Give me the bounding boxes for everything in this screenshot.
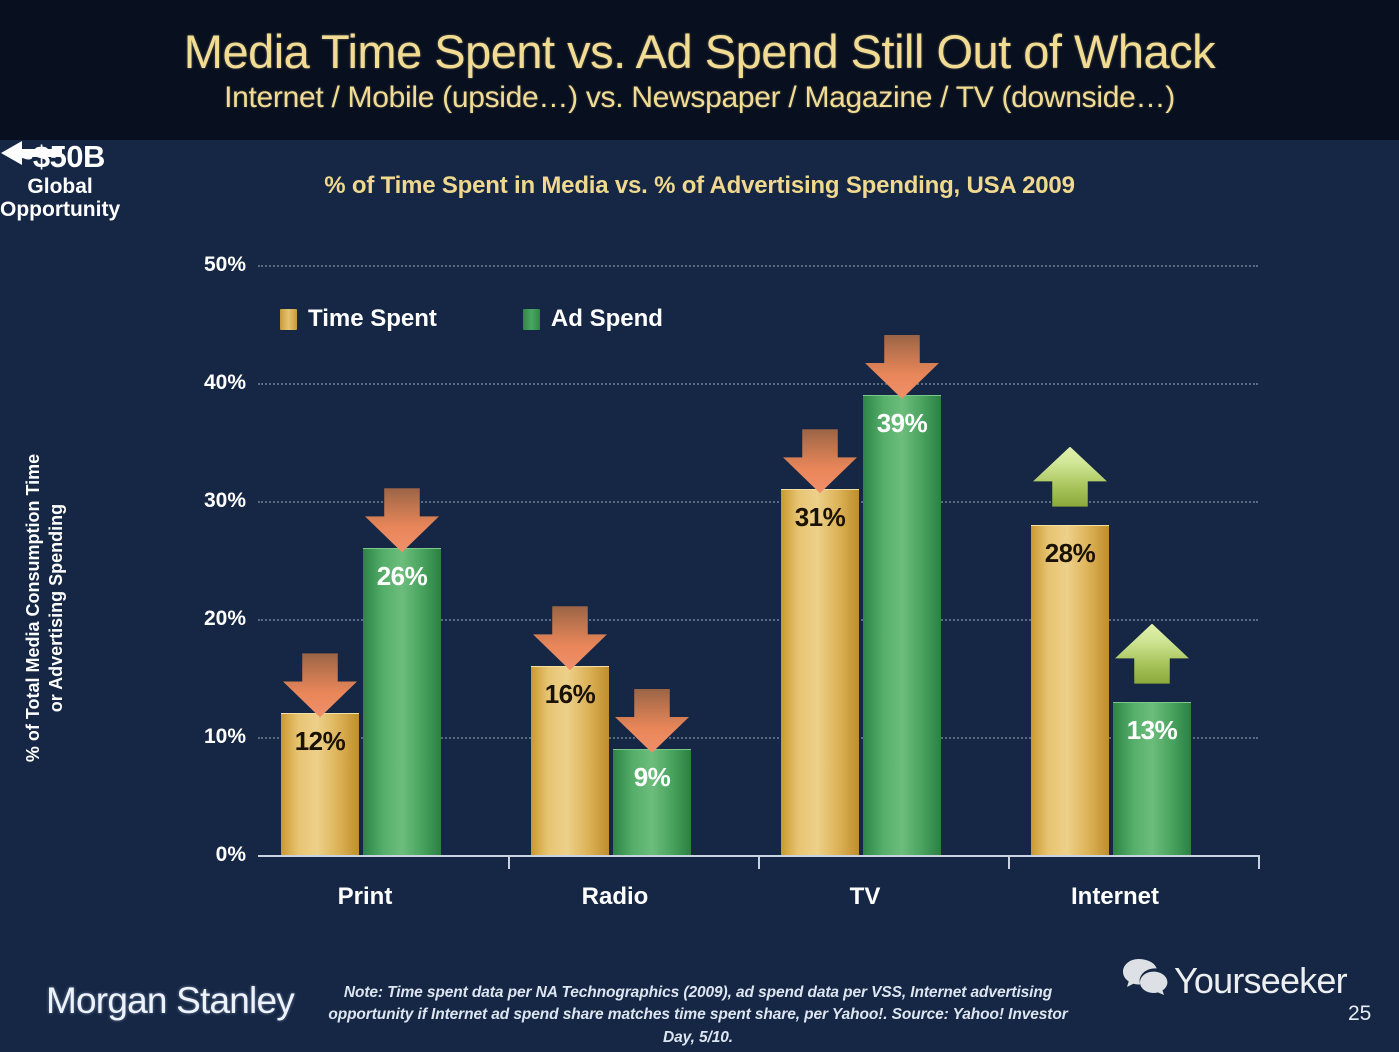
gridline-50% (258, 265, 1258, 267)
trend-arrow-down-radio-ad-spend-icon (615, 689, 689, 753)
legend-item-ad-spend: Ad Spend (523, 305, 663, 333)
trend-arrow-down-tv-ad-spend-icon (865, 335, 939, 399)
y-axis-tick-label: 0% (126, 843, 246, 867)
y-axis-tick-label: 30% (126, 489, 246, 513)
slide-body: % of Time Spent in Media vs. % of Advert… (0, 140, 1399, 1052)
callout-line1: Global (0, 175, 120, 199)
chart-title: % of Time Spent in Media vs. % of Advert… (0, 172, 1399, 200)
bar-tv-ad-spend[interactable]: 39% (863, 395, 941, 855)
y-axis-tick-label: 20% (126, 607, 246, 631)
y-axis-title-line1: % of Total Media Consumption Time (22, 378, 45, 838)
bar-radio-ad-spend[interactable]: 9% (613, 749, 691, 855)
y-axis-tick-label: 10% (126, 725, 246, 749)
y-axis-tick-label: 40% (126, 371, 246, 395)
chart-plot-area: Time Spent Ad Spend 0%10%20%30%40%50%12%… (258, 265, 1258, 855)
bar-value-label: 12% (295, 726, 346, 757)
trend-arrow-down-print-ad-spend-icon (365, 488, 439, 552)
y-axis-title: % of Total Media Consumption Time or Adv… (22, 378, 82, 838)
footnote-text: Note: Time spent data per NA Technograph… (318, 982, 1078, 1049)
bar-print-time-spent[interactable]: 12% (281, 713, 359, 855)
x-axis-label-tv: TV (755, 883, 975, 911)
bar-value-label: 28% (1045, 538, 1096, 569)
bar-tv-time-spent[interactable]: 31% (781, 489, 859, 855)
bar-value-label: 13% (1127, 715, 1178, 746)
bar-value-label: 16% (545, 679, 596, 710)
bar-value-label: 39% (877, 408, 928, 439)
legend-item-time-spent: Time Spent (280, 305, 437, 333)
opportunity-callout: ~$50B Global Opportunity (0, 140, 120, 222)
trend-arrow-up-internet-time-spent-icon (1033, 447, 1107, 507)
trend-arrow-down-tv-time-spent-icon (783, 429, 857, 493)
bar-value-label: 9% (634, 762, 671, 793)
bar-radio-time-spent[interactable]: 16% (531, 666, 609, 855)
bar-internet-time-spent[interactable]: 28% (1031, 525, 1109, 855)
page-number: 25 (1348, 1002, 1371, 1026)
y-axis-tick-label: 50% (126, 253, 246, 277)
y-axis-title-line2: or Advertising Spending (45, 378, 68, 838)
x-axis-tick (508, 855, 510, 869)
morgan-stanley-logo: Morgan Stanley (46, 980, 294, 1022)
callout-line2: Opportunity (0, 198, 120, 222)
x-axis-tick (1258, 855, 1260, 869)
bar-print-ad-spend[interactable]: 26% (363, 548, 441, 855)
chart-legend: Time Spent Ad Spend (280, 305, 663, 333)
legend-label-time-spent: Time Spent (308, 305, 437, 333)
legend-label-ad-spend: Ad Spend (551, 305, 663, 333)
legend-swatch-time-spent-icon (280, 309, 297, 330)
bar-internet-ad-spend[interactable]: 13% (1113, 702, 1191, 855)
callout-amount: ~$50B (0, 140, 120, 175)
trend-arrow-up-internet-ad-spend-icon (1115, 624, 1189, 684)
trend-arrow-down-print-time-spent-icon (283, 653, 357, 717)
bar-value-label: 26% (377, 561, 428, 592)
slide-title: Media Time Spent vs. Ad Spend Still Out … (184, 27, 1215, 76)
x-axis-label-print: Print (255, 883, 475, 911)
x-axis-label-internet: Internet (1005, 883, 1225, 911)
x-axis-tick (758, 855, 760, 869)
x-axis-tick (1008, 855, 1010, 869)
gridline-40% (258, 383, 1258, 385)
x-axis-label-radio: Radio (505, 883, 725, 911)
slide-subtitle: Internet / Mobile (upside…) vs. Newspape… (224, 82, 1175, 114)
slide-header-band: Media Time Spent vs. Ad Spend Still Out … (0, 0, 1399, 140)
legend-swatch-ad-spend-icon (523, 309, 540, 330)
trend-arrow-down-radio-time-spent-icon (533, 606, 607, 670)
bar-value-label: 31% (795, 502, 846, 533)
